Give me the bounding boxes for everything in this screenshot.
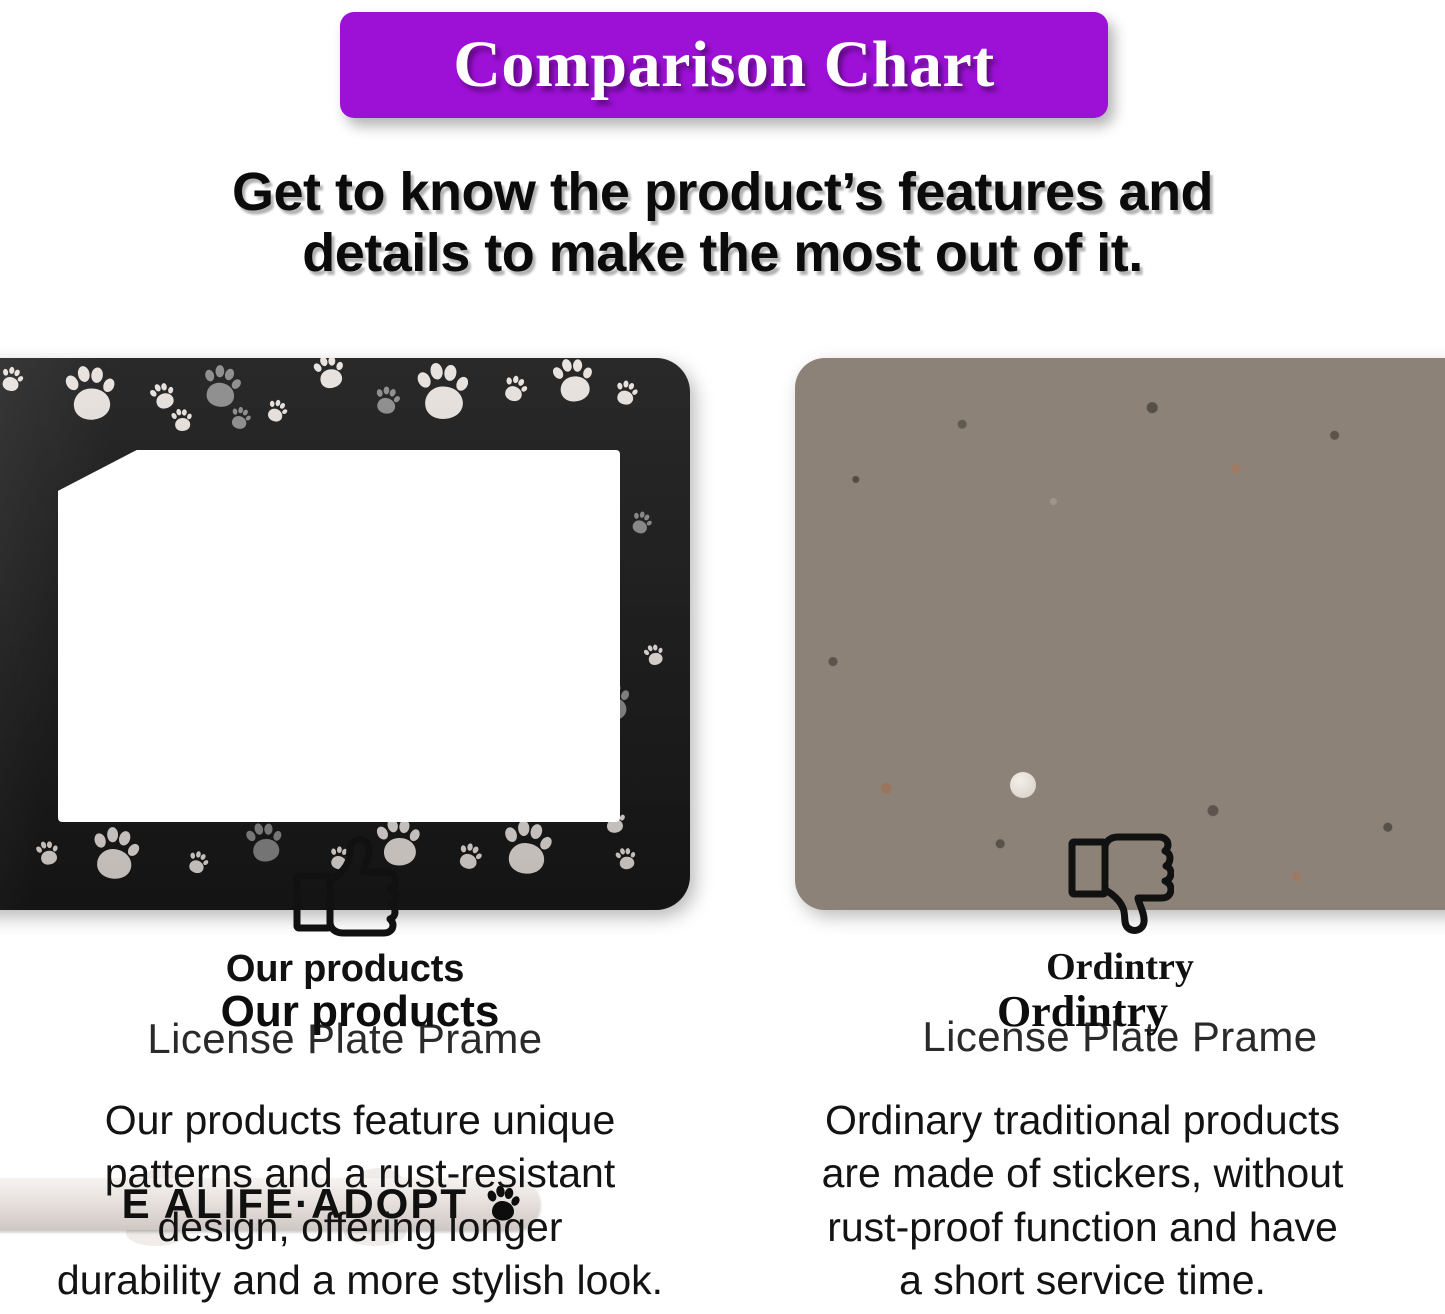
rust-speckle-overlay [795, 358, 1445, 910]
header-banner-area: Comparison Chart [0, 0, 1445, 130]
left-caption-body: Our products feature unique patterns and… [0, 1094, 720, 1307]
right-product-name: Ordintry [795, 948, 1445, 986]
thumbs-down-icon [1066, 832, 1174, 936]
subtitle-line-1: Get to know the product’s features and [0, 162, 1445, 223]
left-product-name: Our products [0, 950, 690, 988]
comparison-captions: Our products Our products feature unique… [0, 990, 1445, 1314]
right-caption-line-1: Ordinary traditional products [720, 1094, 1445, 1147]
right-caption-line-4: a short service time. [720, 1254, 1445, 1307]
right-frame-window [58, 450, 620, 822]
right-caption-body: Ordinary traditional products are made o… [720, 1094, 1445, 1307]
subtitle: Get to know the product’s features and d… [0, 162, 1445, 284]
left-caption-line-4: durability and a more stylish look. [0, 1254, 720, 1307]
left-caption-line-2: patterns and a rust-resistant [0, 1147, 720, 1200]
right-caption-line-3: rust-proof function and have [720, 1201, 1445, 1254]
page-title: Comparison Chart [453, 32, 995, 98]
subtitle-line-2: details to make the most out of it. [0, 223, 1445, 284]
left-caption-title: Our products [0, 990, 720, 1034]
left-caption-line-3: design, offering longer [0, 1201, 720, 1254]
left-caption-column: Our products Our products feature unique… [0, 990, 720, 1307]
product-comparison-panels: Our products License Plate Prame Ordintr… [0, 358, 1445, 918]
right-caption-title: Ordintry [720, 990, 1445, 1034]
right-caption-line-2: are made of stickers, without [720, 1147, 1445, 1200]
ordinary-product-frame-image [795, 358, 1445, 910]
mounting-hole-icon [1010, 772, 1036, 798]
comparison-chart-banner: Comparison Chart [340, 12, 1108, 118]
thumbs-up-icon [291, 834, 399, 938]
right-caption-column: Ordintry Ordinary traditional products a… [720, 990, 1445, 1307]
left-caption-line-1: Our products feature unique [0, 1094, 720, 1147]
